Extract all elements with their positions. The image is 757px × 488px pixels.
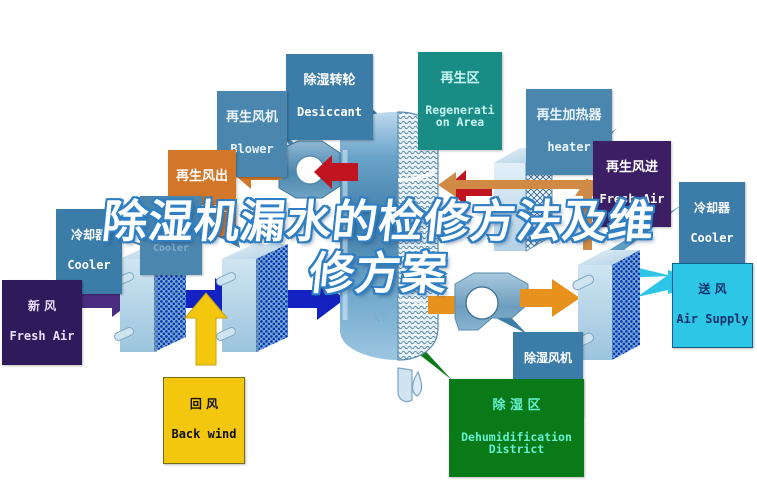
- label-dehum-district: 除 湿 区 Dehumidification District: [449, 379, 584, 477]
- diagram-canvas: XT: [0, 0, 757, 488]
- label-cooler-left-top-cn: 冷却器: [56, 229, 122, 242]
- label-cooler-right-cn: 冷却器: [679, 202, 745, 215]
- label-desiccant-wheel: 除湿转轮 Desiccant: [286, 54, 373, 140]
- label-regen-fresh-air: 再生风进 Fresh Air: [593, 141, 671, 227]
- label-dehum-district-cn: 除 湿 区: [449, 399, 584, 413]
- label-regen-heater-cn: 再生加热器: [526, 109, 612, 123]
- label-fresh-air-en: Fresh Air: [2, 330, 82, 343]
- arrow-dehum-air-to-cooler: [520, 279, 580, 317]
- label-regen-area-cn: 再生区: [418, 72, 502, 86]
- label-air-supply: 送 风 Air Supply: [672, 263, 753, 348]
- label-desiccant-wheel-cn: 除湿转轮: [286, 74, 373, 88]
- label-back-wind: 回 风 Back wind: [163, 377, 245, 464]
- label-cooler-left-mid-cn: 冷却器: [140, 215, 202, 227]
- label-air-supply-cn: 送 风: [673, 283, 752, 296]
- label-regen-area: 再生区 Regenerati on Area: [418, 52, 502, 150]
- label-cooler-left-mid: 冷却器 Cooler: [140, 196, 202, 275]
- label-fresh-air: 新 风 Fresh Air: [2, 280, 82, 365]
- label-regen-exhaust-cn: 再生风出: [168, 170, 236, 184]
- svg-text:XT: XT: [372, 311, 388, 325]
- label-back-wind-cn: 回 风: [164, 398, 244, 411]
- label-dehum-district-en: Dehumidification District: [449, 431, 584, 456]
- label-fresh-air-cn: 新 风: [2, 300, 82, 313]
- label-regen-blower-cn: 再生风机: [217, 111, 287, 125]
- label-air-supply-en: Air Supply: [673, 313, 752, 326]
- label-cooler-left-mid-en: Cooler: [140, 244, 202, 255]
- label-regen-fresh-air-en: Fresh Air: [593, 193, 671, 206]
- label-regen-fresh-air-cn: 再生风进: [593, 161, 671, 175]
- desiccant-wheel: XT: [340, 112, 438, 402]
- cooler-block-2: [215, 244, 288, 352]
- label-desiccant-wheel-en: Desiccant: [286, 106, 373, 119]
- label-cooler-left-top-en: Cooler: [56, 259, 122, 272]
- label-dehum-blower-cn: 除湿风机: [513, 352, 583, 365]
- label-back-wind-en: Back wind: [164, 428, 244, 441]
- label-regen-area-en: Regenerati on Area: [418, 104, 502, 129]
- label-cooler-right: 冷却器 Cooler: [679, 182, 745, 267]
- dehum-blower: [455, 273, 528, 330]
- label-cooler-right-en: Cooler: [679, 232, 745, 245]
- condensate-drain: [398, 368, 422, 402]
